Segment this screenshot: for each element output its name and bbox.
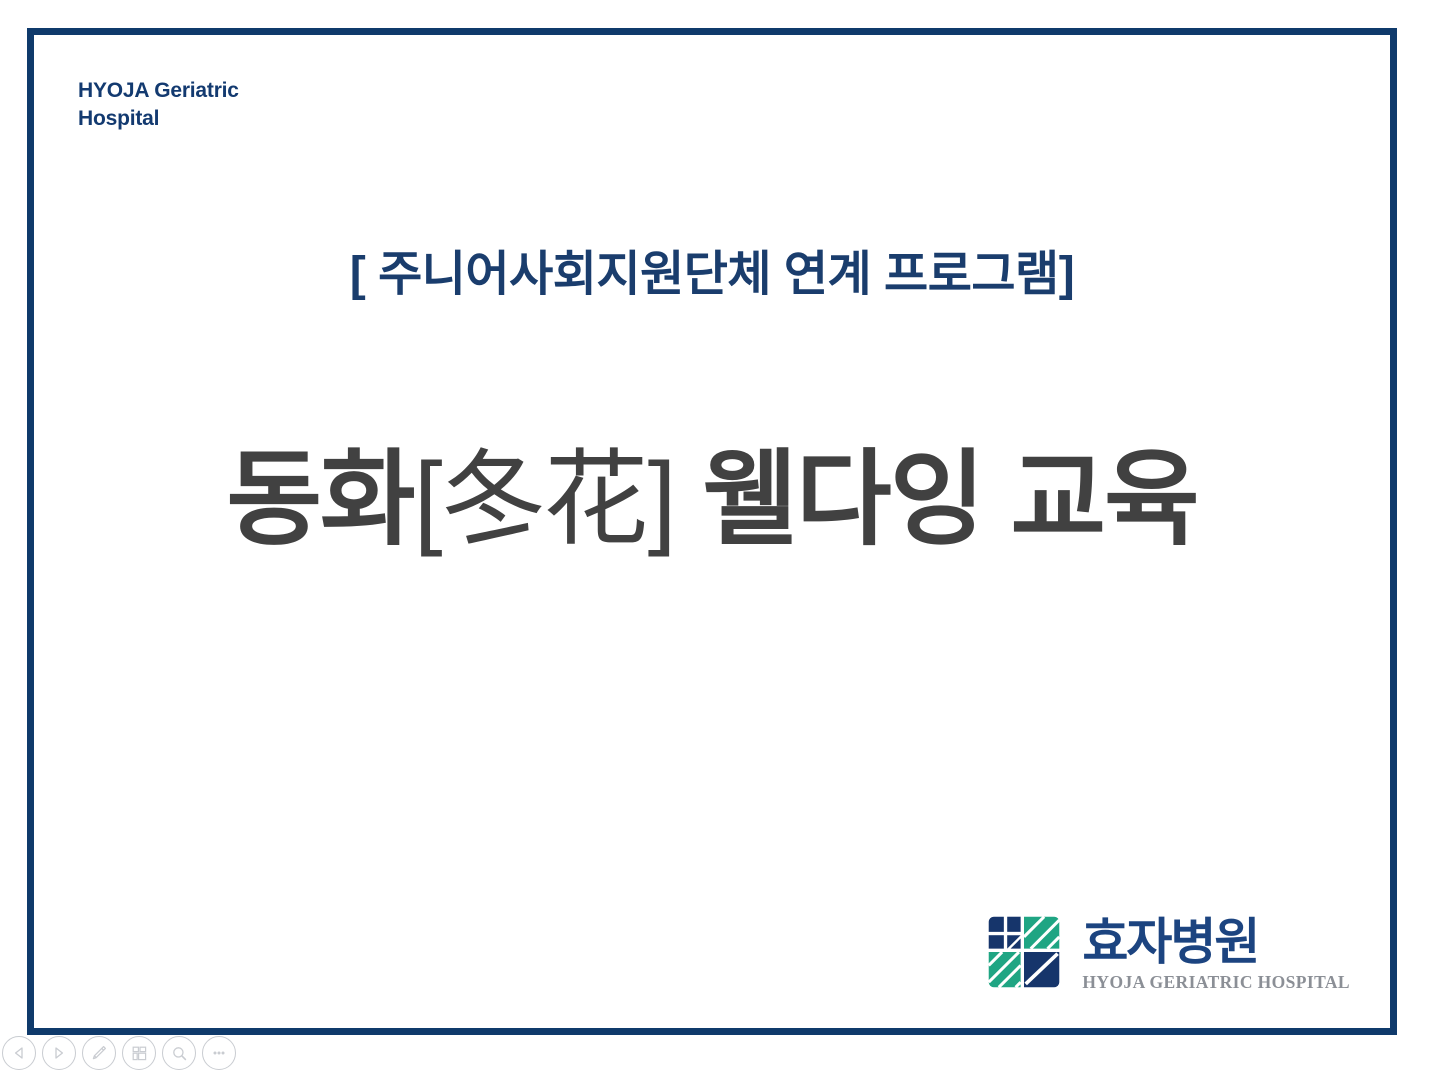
hospital-logo: 효자병원 HYOJA GERIATRIC HOSPITAL	[982, 910, 1350, 994]
next-slide-button[interactable]	[42, 1036, 76, 1070]
hyoja-hospital-logo-icon	[982, 910, 1066, 994]
logo-name-korean: 효자병원	[1082, 917, 1350, 967]
page-title-hanja: [冬花]	[414, 442, 676, 558]
viewer-toolbar	[0, 1035, 1431, 1071]
pen-icon	[90, 1044, 108, 1062]
program-label: [ 주니어사회지원단체 연계 프로그램]	[34, 247, 1390, 302]
annotate-button[interactable]	[82, 1036, 116, 1070]
logo-name-english: HYOJA GERIATRIC HOSPITAL	[1082, 973, 1350, 992]
zoom-button[interactable]	[162, 1036, 196, 1070]
slide-viewer: HYOJA Geriatric Hospital [ 주니어사회지원단체 연계 …	[0, 0, 1431, 1071]
triangle-left-icon	[12, 1046, 26, 1060]
organization-mark: HYOJA Geriatric Hospital	[78, 77, 239, 133]
magnifier-icon	[171, 1045, 188, 1062]
previous-slide-button[interactable]	[2, 1036, 36, 1070]
triangle-right-icon	[52, 1046, 66, 1060]
page-title: 동화[冬花] 웰다잉 교육	[34, 439, 1390, 562]
slide-overview-button[interactable]	[122, 1036, 156, 1070]
grid-layout-icon	[131, 1045, 148, 1062]
logo-wordmark: 효자병원 HYOJA GERIATRIC HOSPITAL	[1082, 917, 1350, 994]
slide-frame: HYOJA Geriatric Hospital [ 주니어사회지원단체 연계 …	[27, 28, 1397, 1035]
slide-canvas: HYOJA Geriatric Hospital [ 주니어사회지원단체 연계 …	[34, 35, 1390, 1028]
more-options-button[interactable]	[202, 1036, 236, 1070]
ellipsis-icon	[210, 1044, 228, 1062]
page-title-trail: 웰다잉 교육	[675, 442, 1197, 558]
page-title-lead: 동화	[226, 442, 413, 558]
